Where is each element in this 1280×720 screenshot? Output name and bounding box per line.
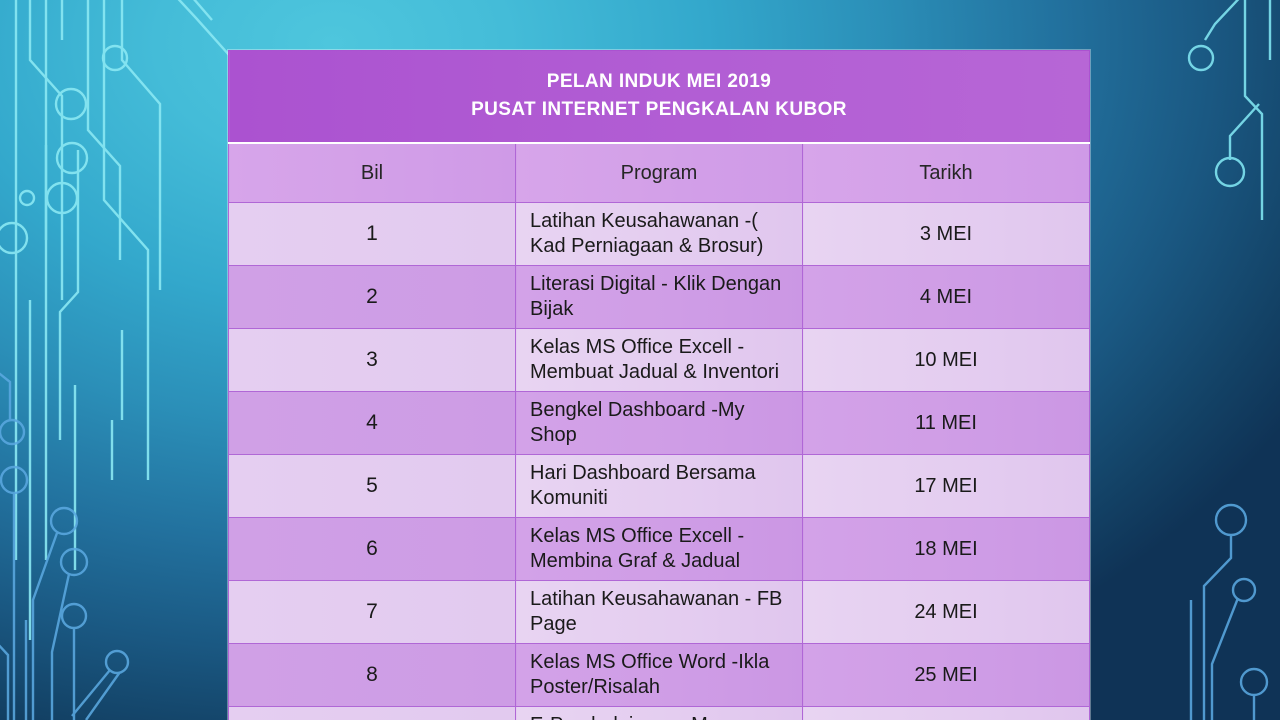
table-row: 2 Literasi Digital - Klik Dengan Bijak 4… <box>229 266 1090 329</box>
slide-canvas: PELAN INDUK MEI 2019 PUSAT INTERNET PENG… <box>0 0 1280 720</box>
cell-bil: 3 <box>229 329 516 392</box>
cell-bil: 4 <box>229 392 516 455</box>
table-title-row: PELAN INDUK MEI 2019 PUSAT INTERNET PENG… <box>229 51 1090 144</box>
cell-tarikh: 24 MEI <box>803 581 1090 644</box>
title-line-2: PUSAT INTERNET PENGKALAN KUBOR <box>239 96 1079 124</box>
table-title-cell: PELAN INDUK MEI 2019 PUSAT INTERNET PENG… <box>229 51 1090 144</box>
cell-tarikh: 18 MEI <box>803 518 1090 581</box>
cell-program: Hari Dashboard Bersama Komuniti <box>516 455 803 518</box>
cell-tarikh: 11 MEI <box>803 392 1090 455</box>
table-row: 7 Latihan Keusahawanan - FB Page 24 MEI <box>229 581 1090 644</box>
column-header-bil: Bil <box>229 143 516 203</box>
cell-program: Kelas MS Office Word -Ikla Poster/Risala… <box>516 644 803 707</box>
cell-bil: 8 <box>229 644 516 707</box>
cell-tarikh: 31 MEI <box>803 707 1090 720</box>
table-row: 8 Kelas MS Office Word -Ikla Poster/Risa… <box>229 644 1090 707</box>
cell-bil: 7 <box>229 581 516 644</box>
cell-bil: 6 <box>229 518 516 581</box>
cell-bil: 2 <box>229 266 516 329</box>
cell-tarikh: 10 MEI <box>803 329 1090 392</box>
schedule-table: PELAN INDUK MEI 2019 PUSAT INTERNET PENG… <box>228 50 1090 720</box>
cell-program: Literasi Digital - Klik Dengan Bijak <box>516 266 803 329</box>
cell-tarikh: 25 MEI <box>803 644 1090 707</box>
cell-tarikh: 3 MEI <box>803 203 1090 266</box>
table-row: 3 Kelas MS Office Excell - Membuat Jadua… <box>229 329 1090 392</box>
cell-tarikh: 4 MEI <box>803 266 1090 329</box>
cell-bil: 5 <box>229 455 516 518</box>
column-header-program: Program <box>516 143 803 203</box>
cell-program: Kelas MS Office Excell - Membina Graf & … <box>516 518 803 581</box>
title-line-1: PELAN INDUK MEI 2019 <box>239 68 1079 96</box>
table-row: 1 Latihan Keusahawanan -( Kad Perniagaan… <box>229 203 1090 266</box>
cell-program: E-Pembelajaran - Mewarna Online & Kuiz <box>516 707 803 720</box>
cell-program: Kelas MS Office Excell - Membuat Jadual … <box>516 329 803 392</box>
column-header-tarikh: Tarikh <box>803 143 1090 203</box>
table-row: 5 Hari Dashboard Bersama Komuniti 17 MEI <box>229 455 1090 518</box>
table-row: 6 Kelas MS Office Excell - Membina Graf … <box>229 518 1090 581</box>
cell-program: Latihan Keusahawanan -( Kad Perniagaan &… <box>516 203 803 266</box>
cell-bil: 1 <box>229 203 516 266</box>
table-row: 4 Bengkel Dashboard -My Shop 11 MEI <box>229 392 1090 455</box>
schedule-table-container: PELAN INDUK MEI 2019 PUSAT INTERNET PENG… <box>228 50 1090 720</box>
cell-bil: 9 <box>229 707 516 720</box>
table-row: 9 E-Pembelajaran - Mewarna Online & Kuiz… <box>229 707 1090 720</box>
cell-program: Bengkel Dashboard -My Shop <box>516 392 803 455</box>
cell-program: Latihan Keusahawanan - FB Page <box>516 581 803 644</box>
table-header-row: Bil Program Tarikh <box>229 143 1090 203</box>
cell-tarikh: 17 MEI <box>803 455 1090 518</box>
